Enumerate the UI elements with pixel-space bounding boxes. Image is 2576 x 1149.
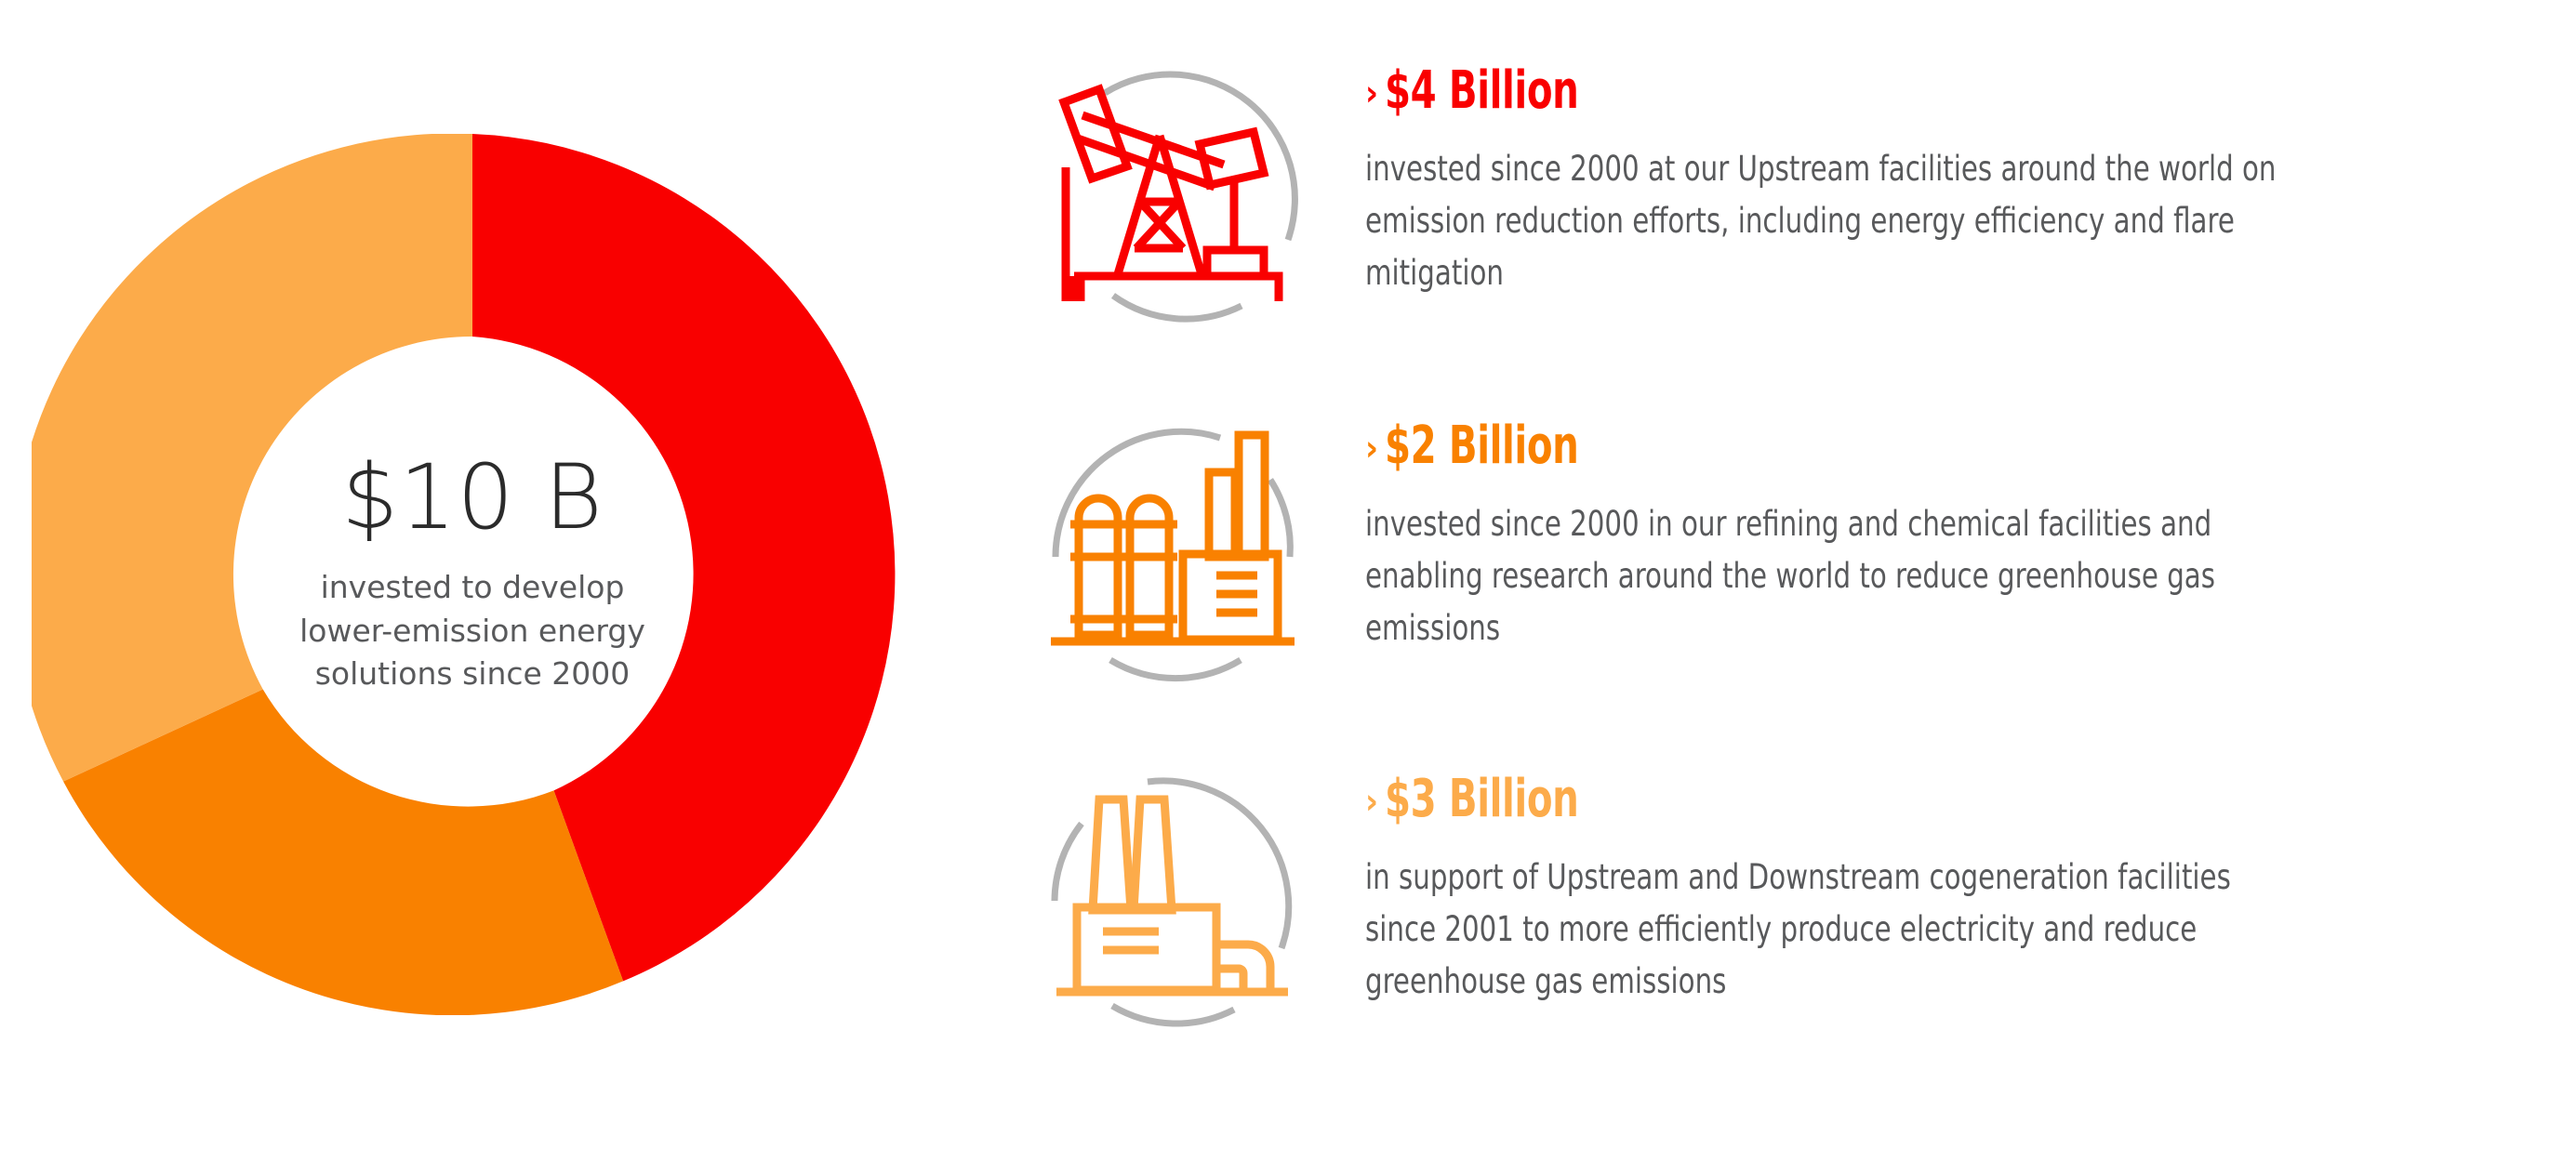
item-amount: $3 Billion	[1385, 773, 1578, 825]
list-item[interactable]: › $2 Billion invested since 2000 in our …	[1042, 413, 2548, 720]
refinery-icon	[1042, 413, 1321, 692]
item-heading: › $3 Billion	[1365, 773, 2548, 825]
donut-chart-panel: $10 B invested to develop lower-emission…	[0, 0, 986, 1149]
item-amount: $4 Billion	[1385, 65, 1578, 117]
pumpjack-icon	[1042, 58, 1321, 337]
broken-circle-arc-bottom	[1112, 1006, 1234, 1024]
item-body: › $3 Billion in support of Upstream and …	[1321, 766, 2548, 1009]
item-body: › $4 Billion invested since 2000 at our …	[1321, 58, 2548, 300]
chevron-right-icon: ›	[1365, 75, 1378, 111]
broken-circle-arc-left	[1055, 824, 1082, 901]
donut-slice-3[interactable]	[32, 134, 472, 782]
list-item[interactable]: › $3 Billion in support of Upstream and …	[1042, 766, 2548, 1073]
item-heading: › $4 Billion	[1365, 65, 2548, 117]
broken-circle-arc-bottom	[1113, 296, 1242, 319]
donut-slices	[32, 134, 895, 1015]
chevron-right-icon: ›	[1365, 784, 1378, 819]
cogeneration-plant-icon	[1042, 766, 1321, 1045]
investment-items-list: › $4 Billion invested since 2000 at our …	[1042, 58, 2548, 1127]
item-description: in support of Upstream and Downstream co…	[1365, 852, 2290, 1009]
donut-chart	[32, 134, 913, 1015]
broken-circle-arc-right	[1270, 480, 1290, 557]
chevron-right-icon: ›	[1365, 430, 1378, 466]
item-amount: $2 Billion	[1385, 420, 1578, 472]
broken-circle-arc-bottom	[1110, 660, 1241, 679]
item-body: › $2 Billion invested since 2000 in our …	[1321, 413, 2548, 655]
infographic-root: $10 B invested to develop lower-emission…	[0, 0, 2576, 1149]
list-item[interactable]: › $4 Billion invested since 2000 at our …	[1042, 58, 2548, 364]
item-description: invested since 2000 at our Upstream faci…	[1365, 143, 2290, 300]
item-description: invested since 2000 in our refining and …	[1365, 498, 2290, 655]
item-heading: › $2 Billion	[1365, 420, 2548, 472]
